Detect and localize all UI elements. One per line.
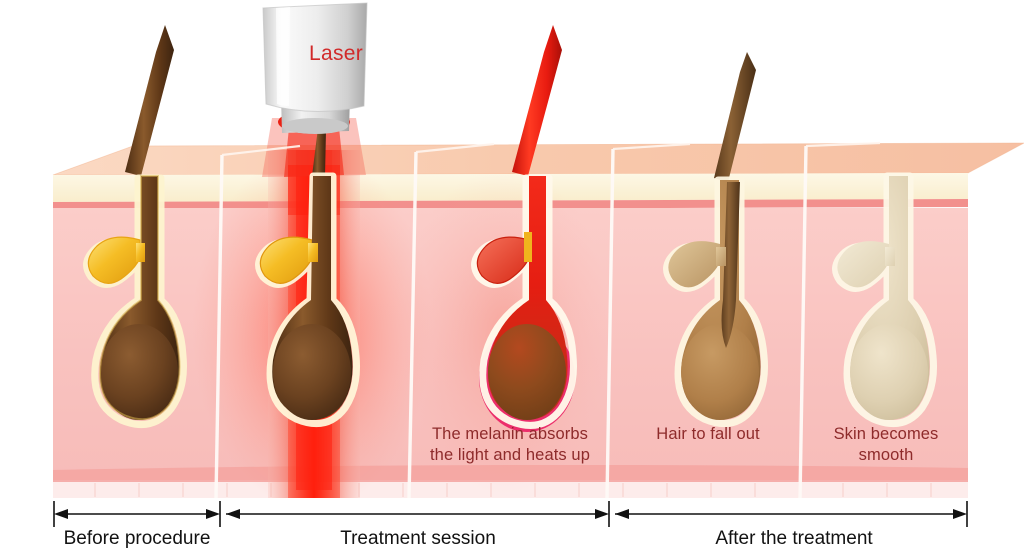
laser-device[interactable] (263, 3, 367, 134)
phase-label-after: After the treatment (692, 527, 896, 550)
caption-melanin-line1: The melanin absorbs (412, 424, 608, 445)
skin-cross-section-diagram (0, 0, 1024, 559)
skin-top-face (53, 143, 1024, 175)
hair-bulb-faded (681, 324, 759, 420)
phase-label-treatment: Treatment session (320, 527, 516, 550)
illustration-canvas: Laser The melanin absorbs the light and … (0, 0, 1024, 559)
caption-fall-out: Hair to fall out (612, 424, 804, 445)
caption-smooth-line2: smooth (806, 445, 966, 466)
caption-smooth: Skin becomes smooth (806, 424, 966, 466)
phase-label-before: Before procedure (44, 527, 230, 550)
hair-bulb-heated (488, 324, 566, 420)
caption-melanin-line2: the light and heats up (412, 445, 608, 466)
empty-hair-bulb (850, 324, 928, 420)
laser-device-label: Laser (309, 42, 363, 66)
caption-melanin: The melanin absorbs the light and heats … (412, 424, 608, 466)
caption-fall-out-line1: Hair to fall out (612, 424, 804, 445)
caption-smooth-line1: Skin becomes (806, 424, 966, 445)
phase-brackets (54, 501, 967, 527)
hair-bulb (273, 324, 351, 420)
